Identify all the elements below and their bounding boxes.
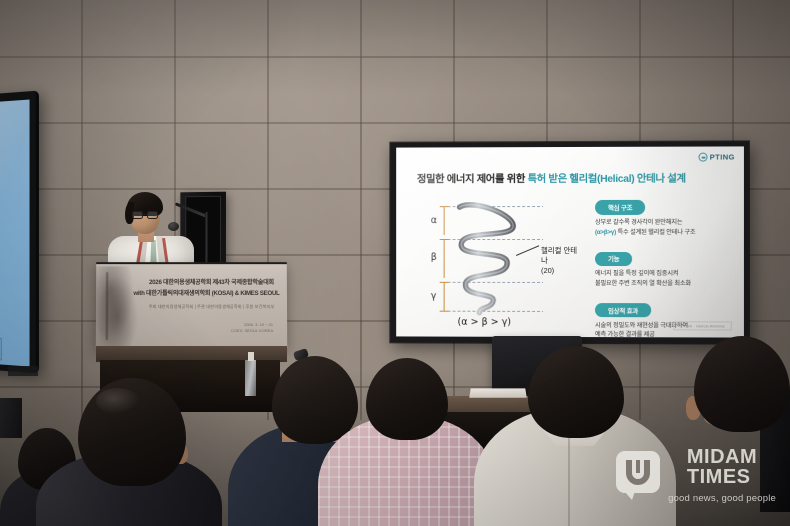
label-gamma: γ [431,291,437,302]
watermark-title-line-1: MIDAM [687,447,757,467]
left-portrait-display: 설계 [0,91,39,374]
dimension-tick [440,239,449,240]
letter-m-mark [623,457,653,487]
slide-block-structure: 핵심 구조 상부로 갈수록 경사각이 완만해지는 (α>β>γ) 특수 설계된 … [595,197,738,238]
left-display-screen: 설계 [0,100,30,367]
slide-block-clinical: 임상적 효과 시술의 정밀도와 재현성을 극대화하여 예측 가능한 결과를 제공 [595,300,738,338]
block-structure-text: 상부로 갈수록 경사각이 완만해지는 (α>β>γ) 특수 설계된 헬리컬 안테… [595,218,738,237]
block-structure-inequality: (α>β>γ) [595,229,616,236]
block-structure-line-2: (α>β>γ) 특수 설계된 헬리컬 안테나 구조 [595,228,738,238]
dimension-line-alpha [444,206,445,235]
presenter-laptop [469,388,526,397]
pting-logo: PTING [699,152,735,161]
audience-member-left-hair-highlight [96,388,140,414]
helical-antenna-diagram: α β γ [424,199,583,331]
dimension-tick [440,311,449,312]
podium-banner-line-4: 2026. 3. 19 ~ 21 COEX, SEOUL KOREA [231,322,273,334]
dimension-line-gamma [444,282,445,311]
watermark-tagline: good news, good people [668,493,776,504]
microphone-head [168,222,179,231]
helix-coil-graphic [450,201,529,319]
block-structure-line-1: 상부로 갈수록 경사각이 완만해지는 [595,218,738,228]
left-display-glare [0,100,30,367]
chair-left [0,398,22,438]
block-function-text: 에너지 필을 특정 깊이에 집중시켜 불필요한 주변 조직의 열 확산을 최소화 [595,269,738,288]
slide-title-highlight: 특허 받은 헬리컬(Helical) 안테나 설계 [528,174,686,185]
slide-bullet-column: 핵심 구조 상부로 갈수록 경사각이 완만해지는 (α>β>γ) 특수 설계된 … [595,197,738,338]
dimension-line-beta [444,239,445,278]
podium-banner: 2026 대한의용생체공학회 제43차 국제종합학술대회 with 대한가톨릭의… [96,262,287,348]
podium-banner-line-3: 주최 대한의용생체공학회 | 주관 대한의용생체공학회 | 후원 보건복지부 [142,304,281,310]
dimension-tick [440,206,449,207]
label-beta: β [431,252,437,263]
screenshot-root: 설계 2026 대한의용생체공학회 제43차 국제종합학술대회 with 대한가… [0,0,790,526]
podium-banner-line-1: 2026 대한의용생체공학회 제43차 국제종합학술대회 [142,277,281,286]
callout-label-text: 헬리컬 안테나 [541,246,583,266]
slide-title-plain: 정밀한 에너지 제어를 위한 [417,174,528,185]
podium-ink-artwork [96,266,138,348]
slide-footer-text: PTING · Helical Antenna [680,324,724,328]
watermark-text-group: MIDAM TIMES good news, good people [668,447,776,504]
block-function-line-1: 에너지 필을 특정 깊이에 집중시켜 [595,269,738,279]
dimension-tick [440,282,449,283]
badge-clinical: 임상적 효과 [595,303,651,317]
water-bottle-podium [245,352,256,396]
watermark-title: MIDAM TIMES [687,447,757,487]
midam-times-watermark: MIDAM TIMES good news, good people [616,447,776,504]
left-display-stand [8,366,38,376]
podium-banner-venue: COEX, SEOUL KOREA [231,328,273,334]
glasses-icon [131,211,160,219]
circle-mark-icon [699,153,708,162]
inequality-formula: (α > β > γ) [458,317,512,328]
callout-label: 헬리컬 안테나 (20) [541,246,583,275]
badge-structure: 핵심 구조 [595,200,645,214]
block-structure-line-2-rest: 특수 설계된 헬리컬 안테나 구조 [616,229,695,236]
callout-label-ref: (20) [541,266,583,276]
audience-member-center-right-seam [568,430,570,526]
slide-block-function: 기능 에너지 필을 특정 깊이에 집중시켜 불필요한 주변 조직의 열 확산을 … [595,248,738,289]
slide-title: 정밀한 에너지 제어를 위한 특허 받은 헬리컬(Helical) 안테나 설계 [417,170,732,186]
watermark-title-line-2: TIMES [687,467,757,487]
block-clinical-line-2: 예측 가능한 결과를 제공 [595,330,738,337]
label-alpha: α [431,215,437,226]
slide-footer-note: PTING · Helical Antenna [673,321,732,330]
badge-function: 기능 [595,252,632,266]
midam-logo-icon [616,451,660,501]
block-function-line-2: 불필요한 주변 조직의 열 확산을 최소화 [595,279,738,289]
presentation-slide: PTING 정밀한 에너지 제어를 위한 특허 받은 헬리컬(Helical) … [396,146,744,337]
pting-logo-text: PTING [710,152,735,161]
podium-banner-line-2: with 대한가톨릭의대재생의학회 (KOSAI) & KIMES SEOUL [130,288,283,297]
projection-screen-frame: PTING 정밀한 에너지 제어를 위한 특허 받은 헬리컬(Helical) … [390,141,749,343]
